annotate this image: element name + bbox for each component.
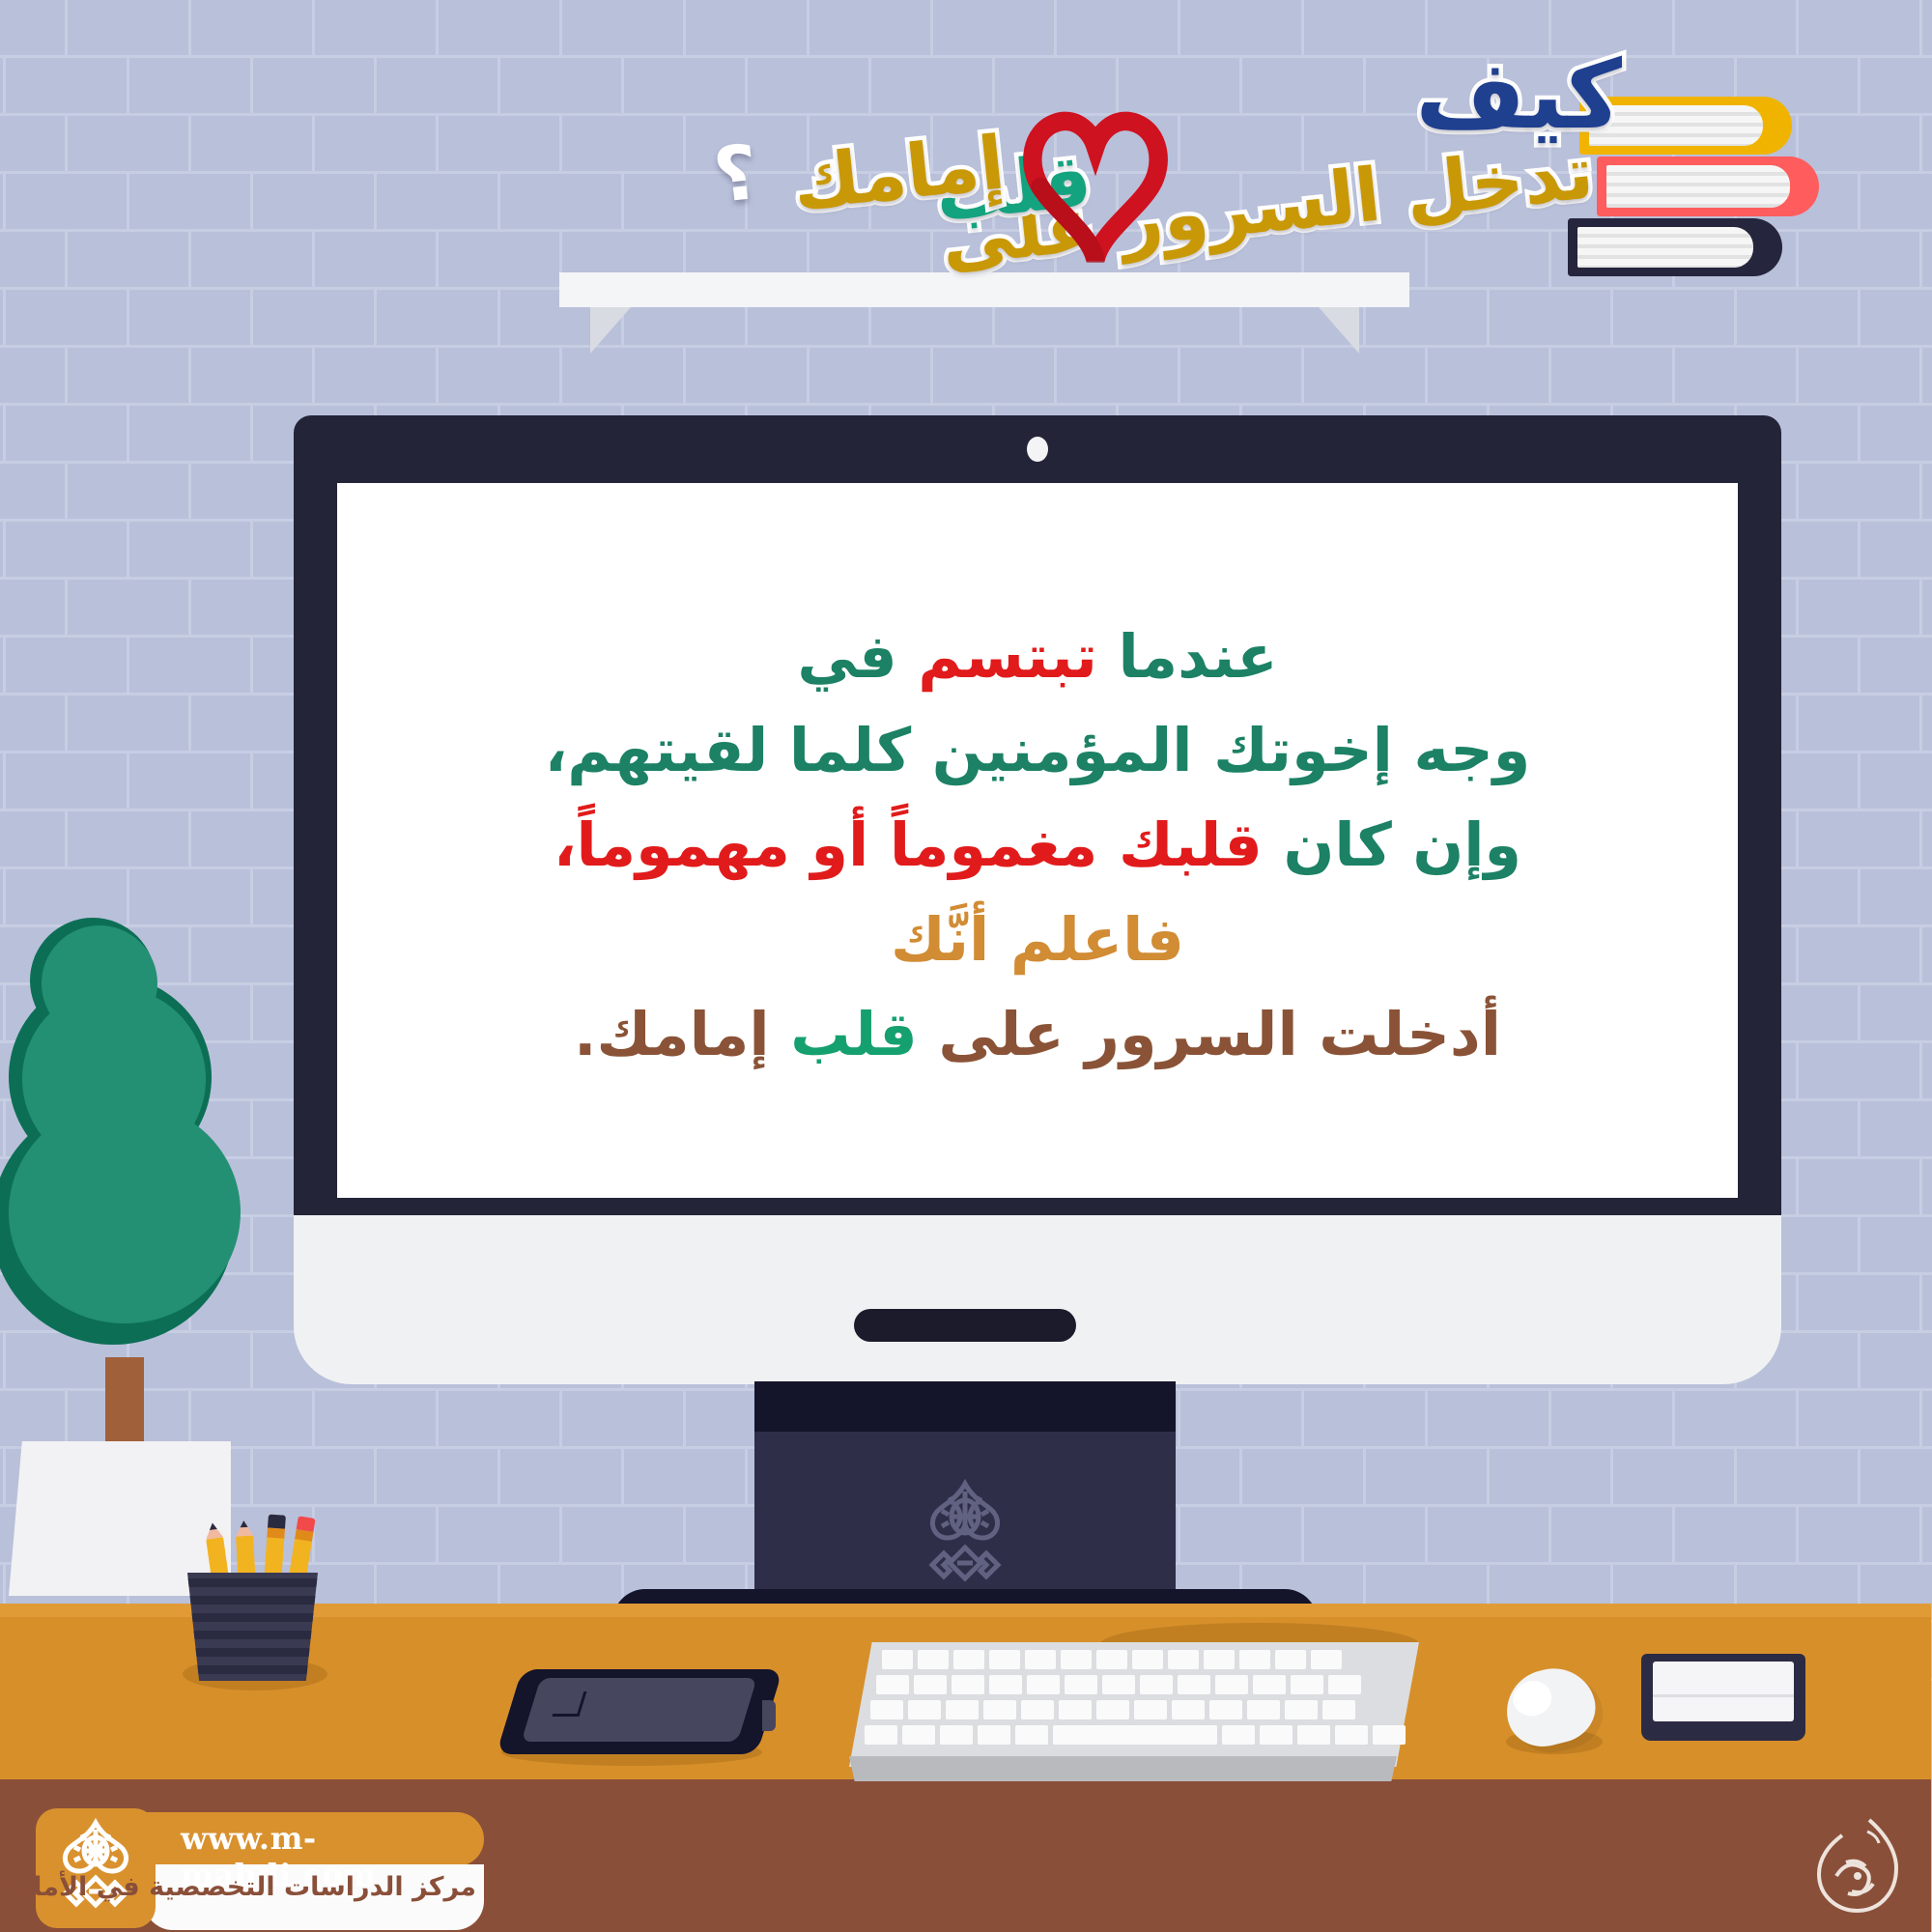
keyboard-key[interactable] <box>866 1725 898 1745</box>
keyboard-key[interactable] <box>1022 1700 1055 1719</box>
keyboard-key[interactable] <box>1298 1725 1331 1745</box>
keyboard-key[interactable] <box>1374 1725 1406 1745</box>
keyboard-key[interactable] <box>909 1700 942 1719</box>
book-navy <box>1569 218 1783 276</box>
tablet-home-button-icon[interactable] <box>553 1691 587 1717</box>
keyboard-side <box>850 1756 1398 1781</box>
book-pages <box>1578 227 1754 268</box>
footer-branding: www.m-mahdi.com مركز الدراسات التخصصية ف… <box>37 1808 486 1932</box>
keyboard-key[interactable] <box>1026 1650 1057 1669</box>
organization-emblem-icon <box>908 1478 1024 1604</box>
keyboard-key[interactable] <box>1292 1675 1324 1694</box>
keyboard-key[interactable] <box>1336 1725 1369 1745</box>
keyboard-key[interactable] <box>1323 1700 1356 1719</box>
keyboard-key[interactable] <box>1065 1675 1098 1694</box>
keyboard-row-3[interactable] <box>871 1700 1356 1719</box>
keyboard-key[interactable] <box>941 1725 974 1745</box>
mouse-highlight <box>1511 1677 1557 1720</box>
quote-container: عندما تبتسم فيوجه إخوتك المؤمنين كلما لق… <box>338 483 1739 1207</box>
quote-segment: عندما <box>1098 621 1279 692</box>
pencil-cup <box>188 1517 319 1681</box>
monitor-brand-bar <box>855 1309 1077 1342</box>
notebook-page-line <box>1654 1694 1795 1697</box>
keyboard-key[interactable] <box>1016 1725 1049 1745</box>
keyboard-key[interactable] <box>883 1650 914 1669</box>
keyboard-key[interactable] <box>903 1725 936 1745</box>
organization-name: مركز الدراسات التخصصية في الأمام المهدي <box>153 1872 477 1902</box>
book-pages <box>1590 105 1764 146</box>
keyboard-key[interactable] <box>1097 1650 1128 1669</box>
keyboard-key[interactable] <box>1216 1675 1249 1694</box>
keyboard-key[interactable] <box>1329 1675 1362 1694</box>
keyboard-key[interactable] <box>1060 1700 1093 1719</box>
keyboard-key[interactable] <box>979 1725 1011 1745</box>
keyboard-row-1[interactable] <box>883 1650 1343 1669</box>
notebook <box>1642 1654 1806 1741</box>
keyboard-key[interactable] <box>1210 1700 1243 1719</box>
quote-line-2: وجه إخوتك المؤمنين كلما لقيتهم، <box>546 710 1532 791</box>
keyboard-row-4[interactable] <box>866 1725 1406 1745</box>
quote-segment: قلب <box>791 999 919 1069</box>
tablet-screen[interactable] <box>523 1678 758 1742</box>
cup-body <box>188 1573 319 1681</box>
keyboard-key[interactable] <box>1173 1700 1206 1719</box>
keyboard-key[interactable] <box>1276 1650 1307 1669</box>
quote-segment: وإن كان <box>1264 810 1522 880</box>
keyboard-key[interactable] <box>1179 1675 1211 1694</box>
potted-tree <box>10 918 299 1517</box>
quote-line-5: أدخلت السرور على قلب إمامك. <box>575 994 1502 1075</box>
wall-shelf <box>560 272 1410 307</box>
quote-segment: فاعلم أنَّك <box>892 904 1185 975</box>
book-stack <box>1580 97 1832 276</box>
keyboard-key[interactable] <box>1169 1650 1200 1669</box>
notebook-pages <box>1654 1662 1795 1721</box>
keyboard-key[interactable] <box>1097 1700 1130 1719</box>
keyboard-key[interactable] <box>1133 1650 1164 1669</box>
keyboard-key[interactable] <box>990 1675 1023 1694</box>
keyboard-key[interactable] <box>1103 1675 1136 1694</box>
keyboard-key[interactable] <box>1254 1675 1287 1694</box>
keyboard-key[interactable] <box>1028 1675 1061 1694</box>
keyboard-key[interactable] <box>1248 1700 1281 1719</box>
keyboard-row-2[interactable] <box>877 1675 1362 1694</box>
keyboard-key[interactable] <box>952 1675 985 1694</box>
keyboard-key[interactable] <box>1135 1700 1168 1719</box>
keyboard[interactable] <box>850 1642 1420 1787</box>
keyboard-key[interactable] <box>1312 1650 1343 1669</box>
keyboard-key[interactable] <box>919 1650 950 1669</box>
computer-monitor: عندما تبتسم فيوجه إخوتك المؤمنين كلما لق… <box>295 415 1782 1275</box>
quote-line-1: عندما تبتسم في <box>798 616 1278 697</box>
tablet-side-button[interactable] <box>763 1700 777 1731</box>
brick-row <box>0 0 1932 58</box>
keyboard-key[interactable] <box>1141 1675 1174 1694</box>
keyboard-key[interactable] <box>877 1675 910 1694</box>
globe-arch-logo-icon <box>50 1818 143 1918</box>
keyboard-key[interactable] <box>954 1650 985 1669</box>
book-pages <box>1607 165 1791 208</box>
keyboard-key[interactable] <box>984 1700 1017 1719</box>
quote-segment: إمامك. <box>575 999 791 1069</box>
keyboard-key[interactable] <box>947 1700 980 1719</box>
keyboard-key[interactable] <box>990 1650 1021 1669</box>
keyboard-key[interactable] <box>1205 1650 1236 1669</box>
calligraphy-emblem-icon <box>1814 1816 1903 1917</box>
shelf-bracket-right <box>1320 307 1360 354</box>
webcam-icon <box>1028 437 1049 462</box>
keyboard-key[interactable] <box>1286 1700 1319 1719</box>
keyboard-key[interactable] <box>1223 1725 1256 1745</box>
book-yellow <box>1580 97 1793 155</box>
monitor-neck-top <box>755 1381 1177 1432</box>
monitor-screen: عندما تبتسم فيوجه إخوتك المؤمنين كلما لق… <box>338 483 1739 1207</box>
keyboard-key[interactable] <box>1240 1650 1271 1669</box>
quote-line-4: فاعلم أنَّك <box>892 899 1185 980</box>
book-red <box>1598 156 1820 216</box>
monitor-lower-bezel <box>295 1215 1782 1384</box>
quote-segment: تبتسم <box>919 621 1098 692</box>
quote-segment: قلبك مغموماً أو مهموماً، <box>554 810 1264 880</box>
tablet-device[interactable] <box>497 1669 784 1754</box>
keyboard-key[interactable] <box>915 1675 948 1694</box>
keyboard-key[interactable] <box>1261 1725 1293 1745</box>
quote-line-3: وإن كان قلبك مغموماً أو مهموماً، <box>554 805 1522 886</box>
quote-segment: في <box>798 621 919 692</box>
quote-segment: وجه إخوتك المؤمنين كلما لقيتهم، <box>546 715 1532 785</box>
brick-row <box>0 348 1932 406</box>
shelf-bracket-left <box>591 307 632 354</box>
quote-segment: أدخلت السرور على <box>919 999 1502 1069</box>
keyboard-key[interactable] <box>1054 1725 1218 1745</box>
keyboard-key[interactable] <box>871 1700 904 1719</box>
keyboard-key[interactable] <box>1062 1650 1093 1669</box>
